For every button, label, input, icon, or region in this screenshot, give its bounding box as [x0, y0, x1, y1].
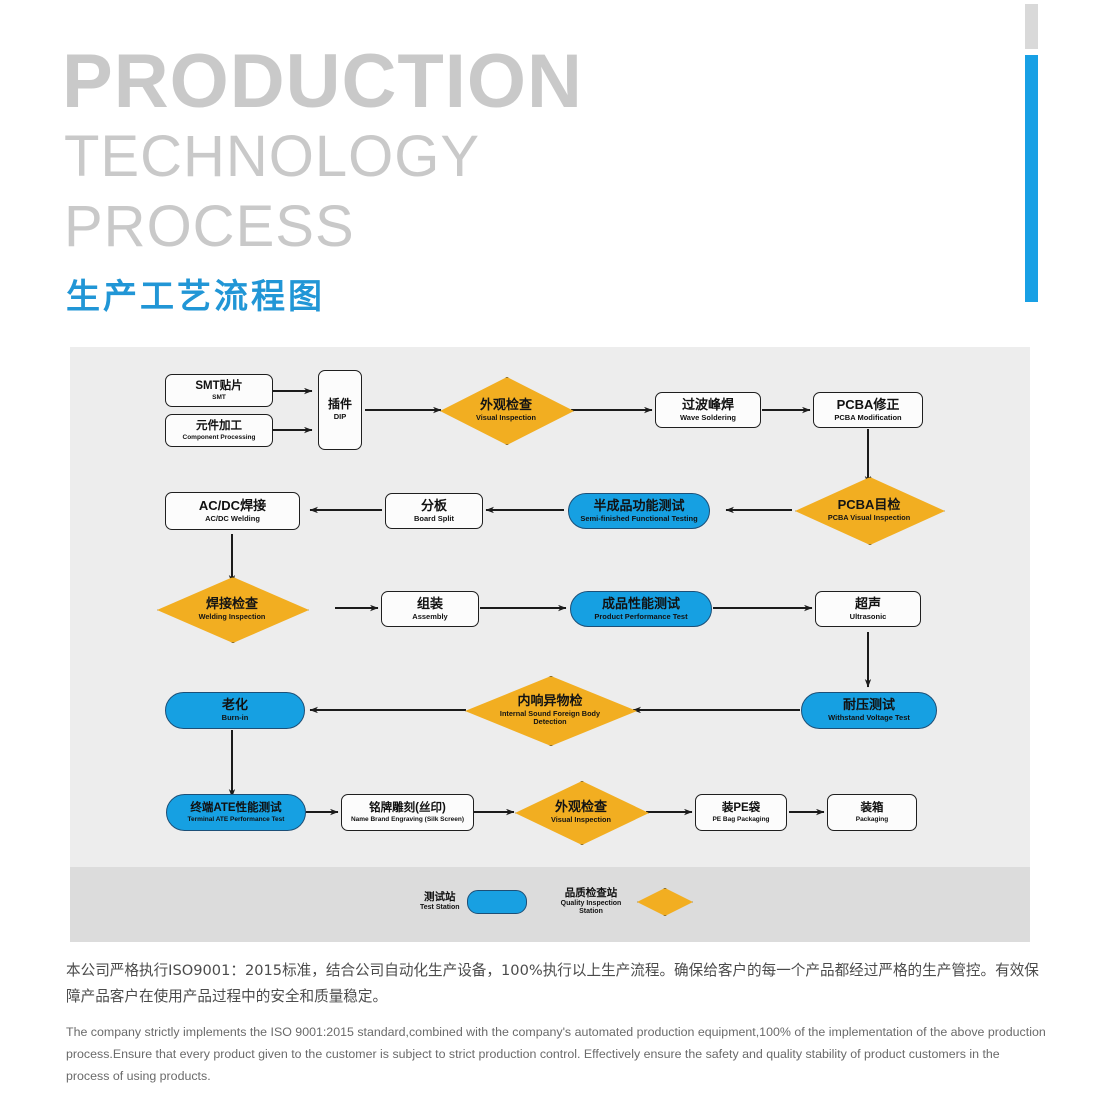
node-packaging-en: Packaging: [856, 816, 889, 823]
node-terminal-ate-performance-test-cn: 终端ATE性能测试: [190, 802, 281, 814]
footer-paragraph-english: The company strictly implements the ISO …: [66, 1021, 1046, 1087]
node-dip-cn: 插件: [328, 398, 352, 411]
node-board-split[interactable]: 分板 Board Split: [385, 493, 483, 529]
legend-test-station-label: 测试站 Test Station: [420, 892, 460, 912]
node-packaging[interactable]: 装箱 Packaging: [827, 794, 917, 831]
node-board-split-en: Board Split: [414, 515, 454, 523]
legend-quality-station-en: Quality Inspection Station: [552, 900, 630, 916]
node-packaging-cn: 装箱: [861, 802, 884, 814]
node-component-processing-en: Component Processing: [183, 434, 256, 441]
legend-pill-swatch: [467, 890, 527, 914]
node-acdc-welding[interactable]: AC/DC焊接 AC/DC Welding: [165, 492, 300, 530]
legend-test-station-cn: 测试站: [420, 892, 460, 904]
node-smt-en: SMT: [212, 394, 226, 401]
title-line-process: PROCESS: [64, 198, 355, 256]
node-ultrasonic[interactable]: 超声 Ultrasonic: [815, 591, 921, 627]
node-pcba-visual-inspection-en: PCBA Visual Inspection: [828, 514, 910, 522]
node-product-performance-test[interactable]: 成品性能测试 Product Performance Test: [570, 591, 712, 627]
node-assembly-en: Assembly: [412, 613, 447, 621]
node-pe-bag-packaging[interactable]: 装PE袋 PE Bag Packaging: [695, 794, 787, 831]
node-visual-inspection-1[interactable]: 外观检查 Visual Inspection: [440, 377, 572, 443]
node-burn-in-cn: 老化: [222, 698, 248, 712]
legend-quality-station-label: 品质检查站 Quality Inspection Station: [552, 888, 630, 915]
node-component-processing[interactable]: 元件加工 Component Processing: [165, 414, 273, 447]
node-pcba-visual-inspection-cn: PCBA目检: [828, 498, 910, 512]
node-smt[interactable]: SMT贴片 SMT: [165, 374, 273, 407]
node-visual-inspection-2[interactable]: 外观检查 Visual Inspection: [515, 781, 647, 843]
node-assembly-cn: 组装: [417, 597, 443, 611]
node-name-brand-engraving[interactable]: 铭牌雕刻(丝印) Name Brand Engraving (Silk Scre…: [341, 794, 474, 831]
node-dip-en: DIP: [334, 413, 347, 421]
node-ultrasonic-cn: 超声: [855, 597, 881, 611]
node-terminal-ate-performance-test-en: Terminal ATE Performance Test: [188, 816, 285, 823]
node-pcba-modification-en: PCBA Modification: [834, 414, 901, 422]
node-welding-inspection-cn: 焊接检查: [199, 597, 266, 611]
node-ultrasonic-en: Ultrasonic: [850, 613, 887, 621]
node-pcba-modification[interactable]: PCBA修正 PCBA Modification: [813, 392, 923, 428]
node-product-performance-test-cn: 成品性能测试: [602, 597, 680, 611]
node-internal-sound-foreign-body-detection[interactable]: 内响异物检 Internal Sound Foreign Body Detect…: [465, 676, 635, 744]
node-visual-inspection-2-cn: 外观检查: [551, 800, 611, 814]
node-welding-inspection-en: Welding Inspection: [199, 613, 266, 621]
node-internal-sound-foreign-body-detection-cn: 内响异物检: [496, 694, 604, 708]
legend-test-station-en: Test Station: [420, 904, 460, 912]
node-board-split-cn: 分板: [421, 499, 447, 513]
node-wave-soldering[interactable]: 过波峰焊 Wave Soldering: [655, 392, 761, 428]
node-product-performance-test-en: Product Performance Test: [594, 613, 687, 621]
footer-paragraph-chinese: 本公司严格执行ISO9001：2015标准，结合公司自动化生产设备，100%执行…: [66, 958, 1046, 1009]
node-terminal-ate-performance-test[interactable]: 终端ATE性能测试 Terminal ATE Performance Test: [166, 794, 306, 831]
node-pcba-modification-cn: PCBA修正: [837, 398, 900, 412]
node-withstand-voltage-test-en: Withstand Voltage Test: [828, 714, 910, 722]
subtitle-chinese: 生产工艺流程图: [66, 280, 325, 314]
legend-item-test-station: 测试站 Test Station: [420, 890, 527, 914]
node-smt-cn: SMT贴片: [195, 380, 242, 392]
node-wave-soldering-cn: 过波峰焊: [682, 398, 734, 412]
node-pe-bag-packaging-en: PE Bag Packaging: [712, 816, 769, 823]
title-line-production: PRODUCTION: [62, 44, 583, 120]
node-pe-bag-packaging-cn: 装PE袋: [722, 802, 760, 814]
node-withstand-voltage-test-cn: 耐压测试: [843, 698, 895, 712]
legend-diamond-swatch: [637, 888, 693, 916]
node-assembly[interactable]: 组装 Assembly: [381, 591, 479, 627]
node-semi-finished-functional-testing[interactable]: 半成品功能测试 Semi-finished Functional Testing: [568, 493, 710, 529]
page-header: PRODUCTION TECHNOLOGY PROCESS 生产工艺流程图: [0, 0, 1100, 340]
accent-bar-gray: [1025, 4, 1038, 49]
node-acdc-welding-cn: AC/DC焊接: [199, 499, 266, 513]
node-component-processing-cn: 元件加工: [196, 420, 242, 432]
node-visual-inspection-1-cn: 外观检查: [476, 398, 536, 412]
node-dip[interactable]: 插件 DIP: [318, 370, 362, 450]
node-semi-finished-functional-testing-en: Semi-finished Functional Testing: [580, 515, 697, 523]
node-visual-inspection-1-en: Visual Inspection: [476, 414, 536, 422]
node-wave-soldering-en: Wave Soldering: [680, 414, 736, 422]
node-name-brand-engraving-cn: 铭牌雕刻(丝印): [369, 802, 446, 814]
node-acdc-welding-en: AC/DC Welding: [205, 515, 260, 523]
node-burn-in[interactable]: 老化 Burn-in: [165, 692, 305, 729]
node-withstand-voltage-test[interactable]: 耐压测试 Withstand Voltage Test: [801, 692, 937, 729]
node-internal-sound-foreign-body-detection-en: Internal Sound Foreign Body Detection: [496, 710, 604, 726]
accent-bar-blue: [1025, 55, 1038, 302]
title-line-technology: TECHNOLOGY: [64, 128, 480, 186]
node-visual-inspection-2-en: Visual Inspection: [551, 816, 611, 824]
node-burn-in-en: Burn-in: [222, 714, 249, 722]
node-name-brand-engraving-en: Name Brand Engraving (Silk Screen): [351, 816, 464, 823]
footer-text-block: 本公司严格执行ISO9001：2015标准，结合公司自动化生产设备，100%执行…: [66, 958, 1046, 1087]
legend-panel: [70, 867, 1030, 942]
node-semi-finished-functional-testing-cn: 半成品功能测试: [593, 499, 684, 513]
legend-quality-station-cn: 品质检查站: [552, 888, 630, 900]
node-pcba-visual-inspection[interactable]: PCBA目检 PCBA Visual Inspection: [795, 477, 943, 543]
legend-item-quality-inspection-station: 品质检查站 Quality Inspection Station: [552, 888, 693, 916]
node-welding-inspection[interactable]: 焊接检查 Welding Inspection: [157, 577, 307, 641]
